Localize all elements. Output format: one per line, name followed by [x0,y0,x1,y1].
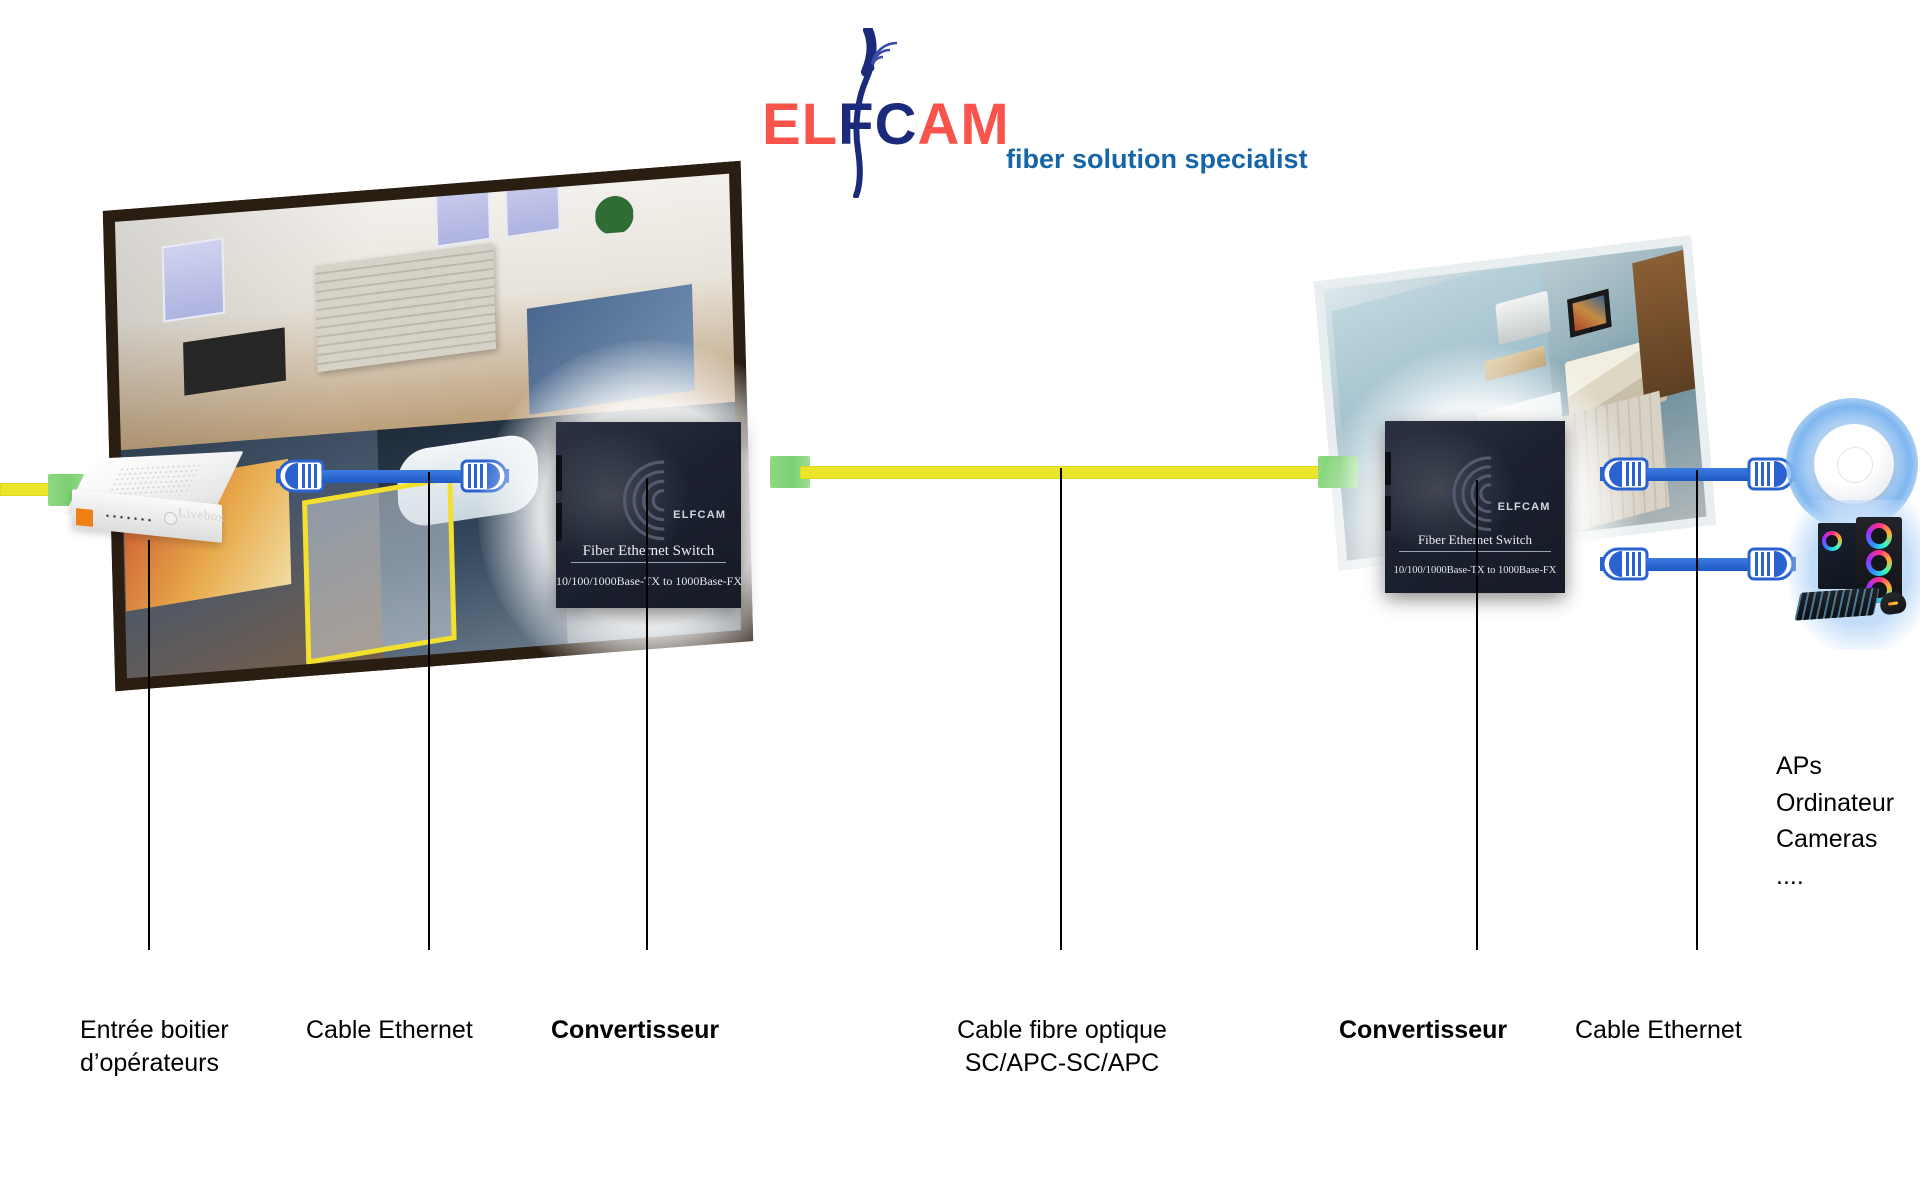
caption-cable-ethernet-left: Cable Ethernet [306,1014,536,1047]
endpoint-item-cameras: Cameras [1776,821,1894,858]
pc-rgb-fan-icon [1822,531,1842,551]
converter-brand-label: ELFCAM [673,509,726,521]
media-converter-right: ELFCAM Fiber Ethernet Switch 10/100/1000… [1385,421,1565,593]
converter-divider [571,562,726,563]
pc-rgb-fan-icon [1866,523,1892,549]
media-converter-left: ELFCAM Fiber Ethernet Switch 10/100/1000… [556,422,741,608]
caption-convertisseur-right: Convertisseur [1339,1014,1569,1047]
converter-spec: 10/100/1000Base-TX to 1000Base-FX [1385,565,1565,576]
converter-port-bank [1385,452,1391,531]
ethernet-cable-to-ap [1646,468,1756,481]
leader-line-convertisseur-right [1476,480,1478,950]
converter-port-bank [556,455,562,541]
converter-brand-label: ELFCAM [1498,501,1551,513]
diagram-canvas: ELFCAM fiber solution specialist [0,0,1920,1200]
leader-line-convertisseur-left [646,478,648,950]
converter-title: Fiber Ethernet Switch [556,543,741,560]
pc-interior-view [1818,523,1858,589]
livebox-operator-box: Livebox [66,455,234,550]
caption-cable-fibre-optique: Cable fibre optique SC/APC-SC/APC [912,1014,1212,1079]
wifi-access-point-icon [1814,424,1894,504]
leader-line-cable-ethernet-left [428,472,430,950]
rj45-plug-icon [455,455,513,497]
brand-letter-c: C [875,92,918,157]
brand-letters-am: AM [917,92,1009,157]
leader-line-cable-ethernet-right [1696,470,1698,950]
endpoint-item-aps: APs [1776,748,1894,785]
elfcam-logo: ELFCAM [762,28,1022,188]
endpoint-device-list: APs Ordinateur Cameras .... [1776,748,1894,894]
ethernet-cable-left [322,470,470,483]
caption-entree-boitier: Entrée boitier d’opérateurs [80,1014,320,1079]
caption-cable-ethernet-right: Cable Ethernet [1575,1014,1805,1047]
elfcam-swirl-icon [1443,449,1555,538]
livebox-power-button[interactable] [164,511,177,525]
endpoint-item-ordinateur: Ordinateur [1776,785,1894,822]
brand-letters-el: EL [762,92,838,157]
brand-tagline: fiber solution specialist [1006,144,1308,175]
elfcam-swirl-icon [615,452,730,549]
ethernet-cable-to-pc [1646,558,1756,571]
livebox-brand-badge-icon [76,508,93,527]
caption-convertisseur-left: Convertisseur [551,1014,781,1047]
leader-line-cable-fibre-optique [1060,468,1062,950]
converter-spec: 10/100/1000Base-TX to 1000Base-FX [556,574,741,589]
pc-rgb-fan-icon [1866,550,1892,576]
endpoint-item-more: .... [1776,858,1894,895]
brand-letter-f: F [838,92,874,157]
keyboard-icon [1794,587,1879,620]
brand-wordmark: ELFCAM [762,96,1010,154]
converter-divider [1399,551,1550,552]
sc-apc-connector-right [1318,456,1358,488]
leader-line-entree-boitier [148,540,150,950]
converter-title: Fiber Ethernet Switch [1385,532,1565,548]
